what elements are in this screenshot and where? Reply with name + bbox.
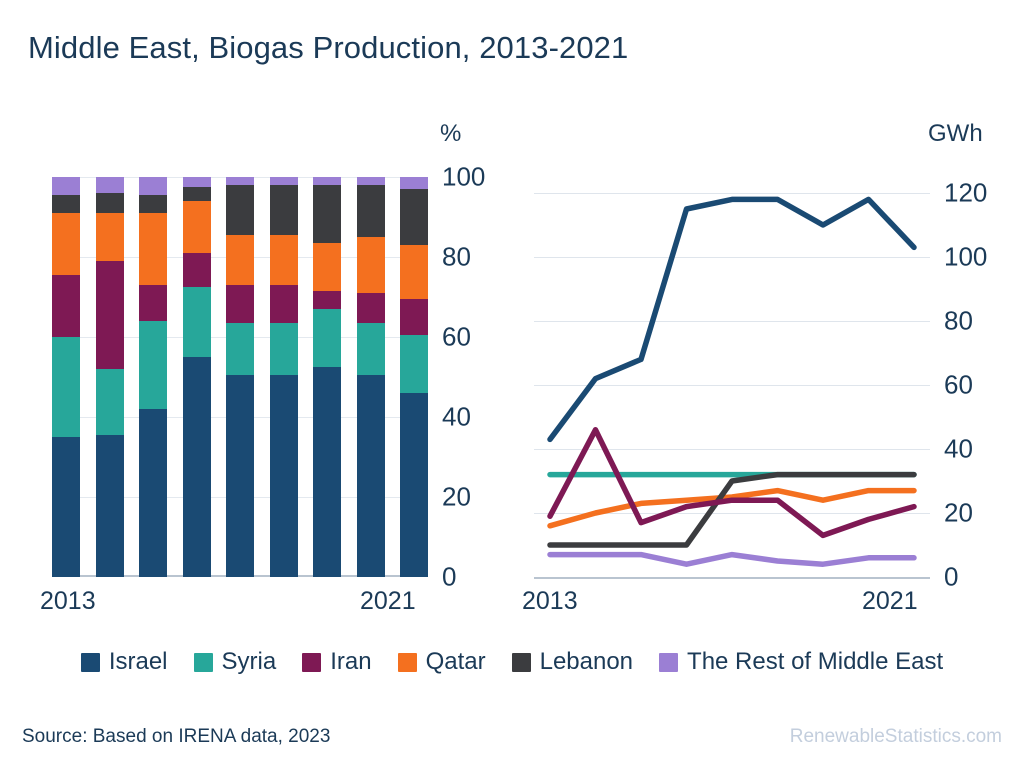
bar-segment [52, 437, 80, 577]
legend-item-syria[interactable]: Syria [194, 648, 277, 676]
bar-segment [226, 323, 254, 375]
bar-segment [313, 367, 341, 577]
legend-item-label: Syria [222, 648, 277, 676]
bar-segment [96, 369, 124, 435]
bar-segment [52, 177, 80, 195]
bar-segment [313, 291, 341, 309]
line-gridline [534, 577, 930, 579]
bar-y-tick-label: 40 [442, 402, 471, 433]
line-chart-unit-label: GWh [928, 120, 983, 148]
bar-y-tick-label: 0 [442, 562, 456, 593]
bar-segment [96, 177, 124, 193]
bar-segment [313, 309, 341, 367]
bar-segment [226, 177, 254, 185]
bar-segment [270, 185, 298, 235]
bar-segment [313, 243, 341, 291]
bar-segment [400, 177, 428, 189]
bar-segment [270, 235, 298, 285]
percent-share-chart: % 020406080100 2013 2021 [28, 115, 498, 615]
bar-column [183, 177, 211, 577]
bar-segment [357, 293, 385, 323]
bar-segment [52, 275, 80, 337]
bar-segment [139, 213, 167, 285]
line-y-tick-label: 80 [944, 306, 973, 337]
bar-segment [183, 187, 211, 201]
bar-segment [226, 235, 254, 285]
line-y-tick-label: 40 [944, 434, 973, 465]
bar-x-label-start: 2013 [40, 587, 96, 616]
legend-item-qatar[interactable]: Qatar [398, 648, 486, 676]
legend-item-label: The Rest of Middle East [687, 648, 943, 676]
bar-segment [139, 285, 167, 321]
legend-item-the-rest-of-middle-east[interactable]: The Rest of Middle East [659, 648, 943, 676]
legend-item-iran[interactable]: Iran [302, 648, 371, 676]
bar-segment [313, 185, 341, 243]
bar-segment [96, 193, 124, 213]
legend-swatch-icon [659, 653, 678, 672]
bar-segment [226, 285, 254, 323]
bar-x-label-end: 2021 [360, 587, 416, 616]
bar-segment [139, 177, 167, 195]
bar-segment [400, 299, 428, 335]
bar-segment [183, 357, 211, 577]
bar-segment [52, 337, 80, 437]
bar-segment [400, 335, 428, 393]
bar-column [400, 177, 428, 577]
bar-segment [226, 375, 254, 577]
bar-y-tick-label: 20 [442, 482, 471, 513]
bar-segment [183, 177, 211, 187]
bar-segment [400, 393, 428, 577]
bar-segment [313, 177, 341, 185]
legend-swatch-icon [81, 653, 100, 672]
legend-item-israel[interactable]: Israel [81, 648, 168, 676]
bar-plot-area [52, 177, 428, 577]
line-plot-area [534, 177, 930, 577]
line-x-label-end: 2021 [862, 587, 918, 616]
bar-segment [400, 245, 428, 299]
bar-segment [52, 195, 80, 213]
bar-segment [226, 185, 254, 235]
bar-segment [96, 435, 124, 577]
legend-swatch-icon [512, 653, 531, 672]
page-title: Middle East, Biogas Production, 2013-202… [28, 30, 628, 66]
chart-legend: IsraelSyriaIranQatarLebanonThe Rest of M… [0, 648, 1024, 676]
bar-segment [96, 213, 124, 261]
bar-segment [139, 321, 167, 409]
bar-segment [270, 375, 298, 577]
line-series-the-rest-of-middle-east [550, 555, 914, 565]
bar-segment [357, 375, 385, 577]
absolute-production-chart: GWh 020406080100120 2013 2021 [510, 115, 1010, 615]
legend-item-label: Iran [330, 648, 371, 676]
line-y-tick-label: 100 [944, 242, 987, 273]
legend-item-label: Israel [109, 648, 168, 676]
bar-segment [139, 195, 167, 213]
line-x-label-start: 2013 [522, 587, 578, 616]
bar-segment [183, 253, 211, 287]
line-series-svg [534, 177, 930, 577]
line-series-israel [550, 199, 914, 439]
bar-segment [183, 201, 211, 253]
line-y-tick-label: 60 [944, 370, 973, 401]
bar-segment [52, 213, 80, 275]
bar-column [357, 177, 385, 577]
bar-y-tick-label: 80 [442, 242, 471, 273]
bar-y-tick-label: 100 [442, 162, 485, 193]
legend-item-lebanon[interactable]: Lebanon [512, 648, 633, 676]
bar-column [313, 177, 341, 577]
bar-column [96, 177, 124, 577]
bar-segment [270, 177, 298, 185]
bar-chart-unit-label: % [440, 120, 461, 148]
watermark: RenewableStatistics.com [790, 726, 1002, 748]
bar-segment [270, 285, 298, 323]
legend-swatch-icon [194, 653, 213, 672]
bar-column [226, 177, 254, 577]
bar-segment [400, 189, 428, 245]
bar-segment [357, 237, 385, 293]
legend-swatch-icon [302, 653, 321, 672]
bar-segment [357, 177, 385, 185]
bar-segment [96, 261, 124, 369]
bar-segment [139, 409, 167, 577]
source-note: Source: Based on IRENA data, 2023 [22, 726, 330, 748]
line-y-tick-label: 120 [944, 178, 987, 209]
bar-column [270, 177, 298, 577]
legend-item-label: Lebanon [540, 648, 633, 676]
legend-swatch-icon [398, 653, 417, 672]
bar-segment [357, 185, 385, 237]
bar-y-tick-label: 60 [442, 322, 471, 353]
bar-segment [270, 323, 298, 375]
bar-segment [357, 323, 385, 375]
bar-column [52, 177, 80, 577]
footer: Source: Based on IRENA data, 2023 Renewa… [0, 720, 1024, 760]
legend-item-label: Qatar [426, 648, 486, 676]
bar-column [139, 177, 167, 577]
bar-segment [183, 287, 211, 357]
line-y-tick-label: 0 [944, 562, 958, 593]
line-y-tick-label: 20 [944, 498, 973, 529]
